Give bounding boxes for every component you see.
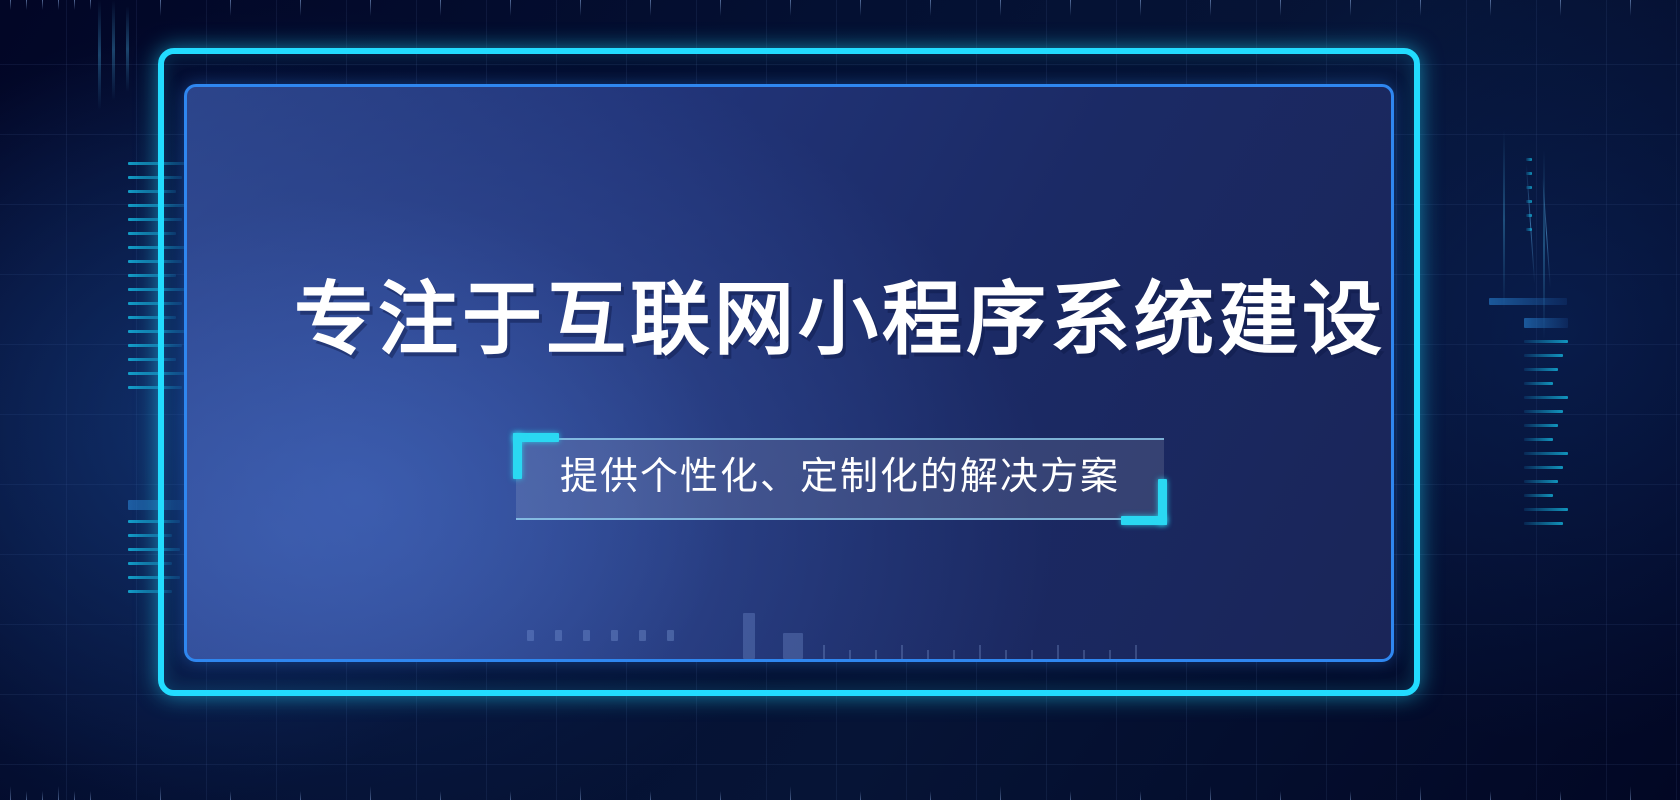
page-title: 专注于互联网小程序系统建设	[294, 280, 1386, 360]
subtitle-box-top-line	[516, 438, 1164, 440]
subtitle-box-bottom-line	[516, 518, 1164, 520]
page-subtitle: 提供个性化、定制化的解决方案	[560, 454, 1120, 502]
hero-banner: 专注于互联网小程序系统建设 提供个性化、定制化的解决方案	[0, 0, 1680, 800]
banner-content: 专注于互联网小程序系统建设 提供个性化、定制化的解决方案	[0, 0, 1680, 800]
corner-bracket-bottom-right-icon	[1121, 479, 1167, 525]
corner-bracket-top-left-icon	[513, 433, 559, 479]
subtitle-box: 提供个性化、定制化的解决方案	[516, 438, 1164, 520]
